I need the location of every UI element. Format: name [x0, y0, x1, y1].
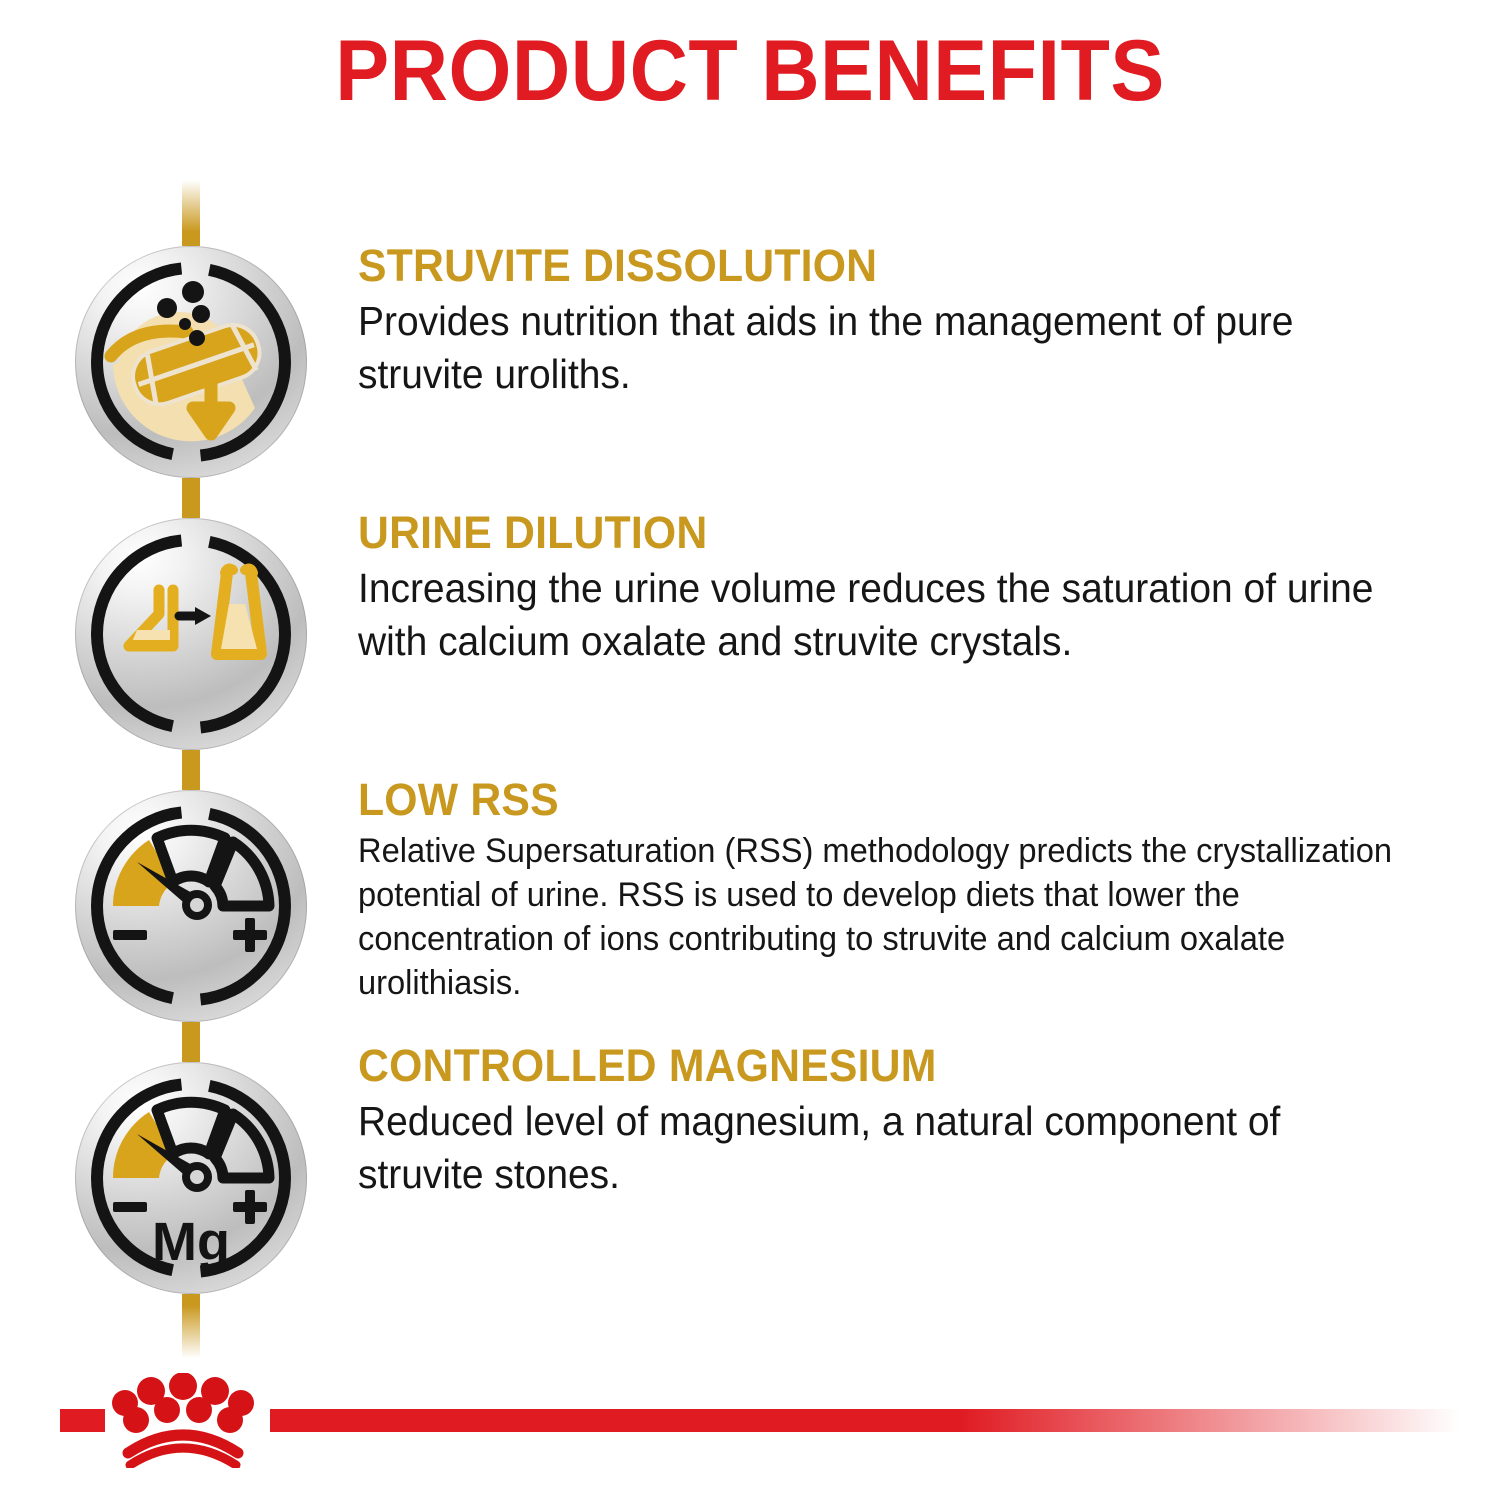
royal-canin-crown-logo [108, 1373, 258, 1468]
benefit-block-controlled-magnesium: CONTROLLED MAGNESIUM Reduced level of ma… [358, 1043, 1453, 1201]
benefit-body: Increasing the urine volume reduces the … [358, 562, 1398, 669]
chain-segment-top [182, 180, 200, 246]
chain-segment-1 [182, 478, 200, 518]
benefit-block-low-rss: LOW RSS Relative Supersaturation (RSS) m… [358, 777, 1453, 1006]
benefit-heading: STRUVITE DISSOLUTION [358, 243, 1398, 289]
benefit-block-urine-dilution: URINE DILUTION Increasing the urine volu… [358, 510, 1453, 668]
gauge-minus-label [113, 930, 147, 940]
benefit-body: Relative Supersaturation (RSS) methodolo… [358, 829, 1409, 1006]
benefit-block-struvite-dissolution: STRUVITE DISSOLUTION Provides nutrition … [358, 243, 1453, 401]
magnesium-gauge-icon: Mg [75, 1062, 307, 1294]
benefit-heading: CONTROLLED MAGNESIUM [358, 1043, 1398, 1089]
benefit-icon-chain: Mg [75, 180, 307, 1358]
two-flasks-urine-dilution-icon [75, 518, 307, 750]
benefit-heading: URINE DILUTION [358, 510, 1398, 556]
benefit-body: Provides nutrition that aids in the mana… [358, 295, 1398, 402]
chain-segment-2 [182, 750, 200, 790]
gauge-minus-label [113, 1202, 147, 1212]
benefit-body: Reduced level of magnesium, a natural co… [358, 1095, 1398, 1202]
benefit-heading: LOW RSS [358, 777, 1398, 823]
struvite-crystal-dissolution-icon [75, 246, 307, 478]
chain-segment-bottom [182, 1294, 200, 1358]
footer [0, 1398, 1500, 1438]
footer-bar-right [270, 1409, 1460, 1432]
chain-segment-3 [182, 1022, 200, 1062]
low-gauge-icon [75, 790, 307, 1022]
gauge-plus-label [233, 918, 267, 952]
magnesium-symbol-label: Mg [152, 1212, 230, 1272]
page-title: PRODUCT BENEFITS [45, 28, 1455, 114]
gauge-plus-label [233, 1190, 267, 1224]
footer-bar-left [60, 1409, 105, 1432]
